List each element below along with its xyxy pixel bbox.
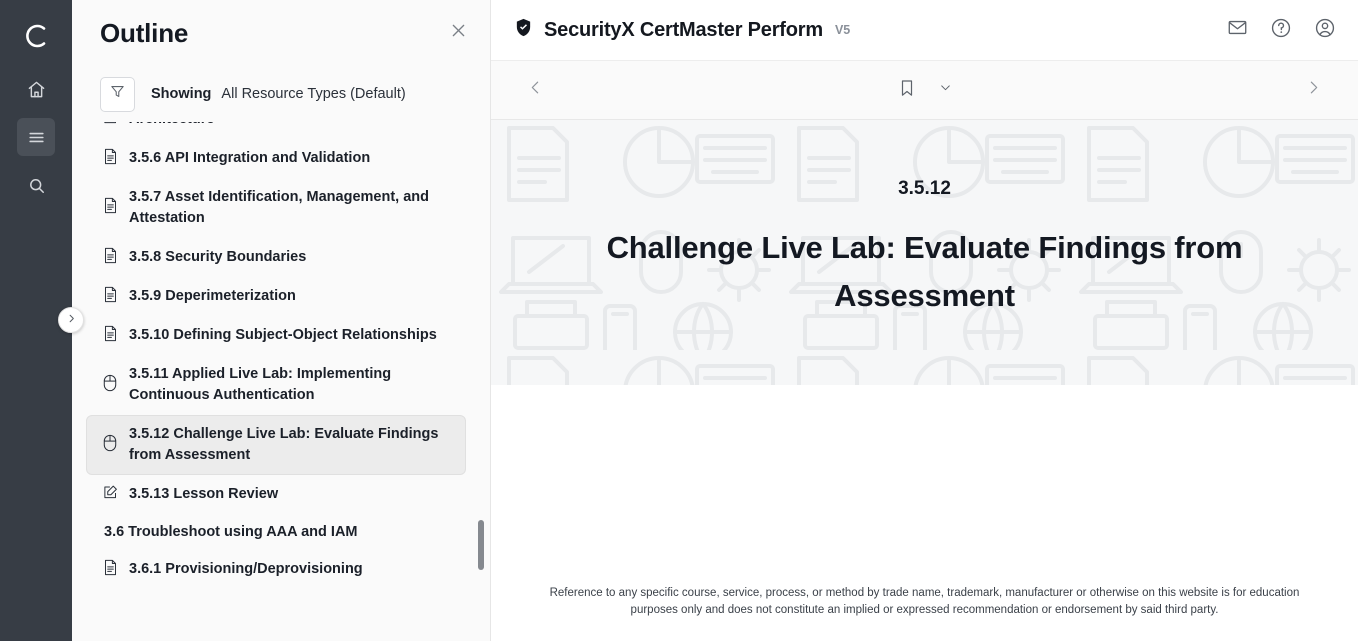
- document-icon: [103, 197, 118, 219]
- outline-item-label: 3.5.6 API Integration and Validation: [129, 148, 370, 169]
- outline-item[interactable]: 3.5.7 Asset Identification, Management, …: [86, 178, 466, 238]
- document-icon: [103, 247, 118, 269]
- chevron-right-icon: [1305, 79, 1322, 101]
- chevron-right-icon: [66, 311, 77, 329]
- document-icon: [103, 325, 118, 347]
- outline-item-label: 3.5.7 Asset Identification, Management, …: [129, 187, 455, 229]
- filter-funnel-icon: [109, 83, 126, 105]
- document-icon: [103, 148, 118, 170]
- outline-item-label: 3.5.12 Challenge Live Lab: Evaluate Find…: [129, 424, 455, 466]
- lesson-hero-banner: 3.5.12 Challenge Live Lab: Evaluate Find…: [491, 120, 1358, 385]
- outline-header: Outline: [72, 0, 490, 66]
- hero-text: 3.5.12 Challenge Live Lab: Evaluate Find…: [491, 120, 1358, 320]
- bookmark-controls: [491, 78, 1358, 103]
- outline-item-icon: [99, 149, 121, 169]
- filter-button[interactable]: [100, 77, 135, 112]
- next-page-button[interactable]: [1305, 79, 1322, 101]
- outline-group-header[interactable]: 3.6 Troubleshoot using AAA and IAM: [86, 514, 466, 550]
- app-root: Outline Showing All Resource Types (Defa…: [0, 0, 1358, 641]
- main-panel: SecurityX CertMaster Perform V5: [491, 0, 1358, 641]
- outline-item[interactable]: 3.5.10 Defining Subject-Object Relations…: [86, 316, 466, 355]
- mouse-lab-icon: [103, 434, 117, 457]
- content-body: Reference to any specific course, servic…: [491, 385, 1358, 641]
- outline-item-label: 3.5.9 Deperimeterization: [129, 286, 296, 307]
- outline-item[interactable]: 3.5.8 Security Boundaries: [86, 238, 466, 277]
- outline-item-icon: [99, 560, 121, 580]
- rail-item-search[interactable]: [17, 166, 55, 204]
- previous-page-button[interactable]: [527, 79, 544, 101]
- outline-close-button[interactable]: [444, 19, 472, 47]
- home-icon: [27, 80, 46, 99]
- search-icon: [27, 176, 46, 195]
- bookmark-icon[interactable]: [897, 78, 917, 103]
- hamburger-menu-icon: [27, 128, 46, 147]
- page-title: Outline: [100, 18, 188, 49]
- outline-item-icon: [99, 485, 121, 505]
- outline-item[interactable]: 3.5.6 API Integration and Validation: [86, 139, 466, 178]
- shield-check-icon: [513, 17, 534, 43]
- mail-icon[interactable]: [1227, 17, 1248, 43]
- outline-item-icon: [99, 287, 121, 307]
- outline-item-icon: [99, 122, 121, 130]
- outline-item[interactable]: 3.5.11 Applied Live Lab: Implementing Co…: [86, 355, 466, 415]
- lesson-review-icon: [103, 484, 118, 505]
- outline-item-label: 3.5.8 Security Boundaries: [129, 247, 306, 268]
- help-circle-icon[interactable]: [1270, 17, 1292, 44]
- outline-item-icon: [99, 326, 121, 346]
- outline-item-label: 3.5.11 Applied Live Lab: Implementing Co…: [129, 364, 455, 406]
- outline-item-icon: [99, 435, 121, 455]
- brand: SecurityX CertMaster Perform V5: [513, 17, 850, 43]
- outline-list[interactable]: Architecture3.5.6 API Integration and Va…: [72, 122, 490, 641]
- user-account-icon[interactable]: [1314, 17, 1336, 44]
- outline-panel: Outline Showing All Resource Types (Defa…: [72, 0, 491, 641]
- rail-item-outline[interactable]: [17, 118, 55, 156]
- chevron-down-icon[interactable]: [939, 81, 952, 99]
- brand-title: SecurityX CertMaster Perform: [544, 19, 823, 42]
- outline-item[interactable]: 3.6.1 Provisioning/Deprovisioning: [86, 550, 466, 589]
- close-icon: [449, 21, 468, 45]
- document-icon: [103, 559, 118, 581]
- filter-selected-value[interactable]: All Resource Types (Default): [221, 86, 405, 102]
- outline-item-selected[interactable]: 3.5.12 Challenge Live Lab: Evaluate Find…: [86, 415, 466, 475]
- filter-row: Showing All Resource Types (Default): [72, 66, 490, 122]
- header-actions: [1227, 17, 1336, 44]
- chevron-left-icon: [527, 79, 544, 101]
- lesson-title: Challenge Live Lab: Evaluate Findings fr…: [565, 224, 1285, 320]
- outline-item-label: 3.6.1 Provisioning/Deprovisioning: [129, 559, 363, 580]
- lesson-number: 3.5.12: [491, 178, 1358, 200]
- lesson-review-icon: [103, 122, 118, 130]
- app-header: SecurityX CertMaster Perform V5: [491, 0, 1358, 60]
- outline-item-icon: [99, 375, 121, 395]
- outline-item-label: 3.5.13 Lesson Review: [129, 484, 278, 505]
- outline-item-icon: [99, 248, 121, 268]
- brand-version: V5: [835, 23, 850, 37]
- panel-collapse-button[interactable]: [58, 307, 84, 333]
- disclaimer-text: Reference to any specific course, servic…: [491, 585, 1358, 619]
- filter-showing-label: Showing: [151, 86, 211, 102]
- document-icon: [103, 286, 118, 308]
- outline-item[interactable]: 3.5.13 Lesson Review: [86, 475, 466, 514]
- rail-item-home[interactable]: [17, 70, 55, 108]
- outline-item-icon: [99, 198, 121, 218]
- mouse-lab-icon: [103, 374, 117, 397]
- outline-item[interactable]: 3.5.9 Deperimeterization: [86, 277, 466, 316]
- outline-item[interactable]: Architecture: [86, 122, 466, 139]
- content-toolbar: [491, 60, 1358, 120]
- outline-item-label: 3.5.10 Defining Subject-Object Relations…: [129, 325, 437, 346]
- app-logo[interactable]: [12, 12, 60, 60]
- outline-scrollbar-thumb[interactable]: [478, 520, 484, 570]
- outline-item-label: Architecture: [129, 122, 214, 130]
